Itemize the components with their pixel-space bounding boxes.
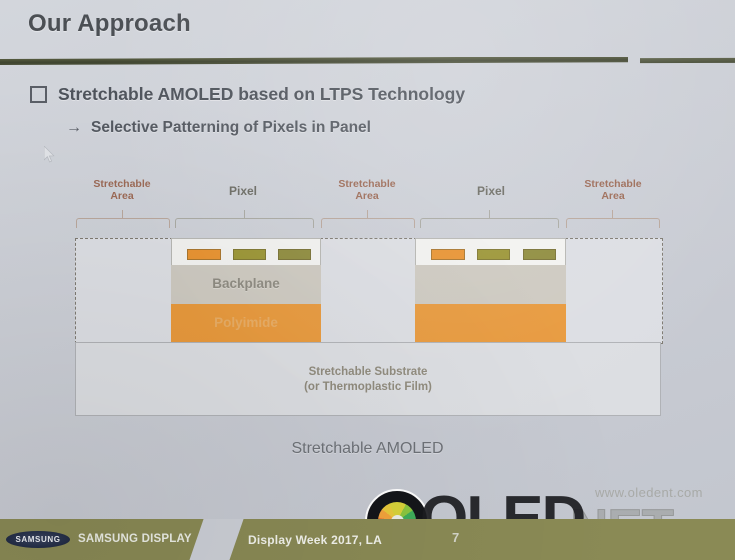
polyimide-layer-2 (415, 304, 566, 343)
subpixel-red-2 (431, 249, 465, 260)
pixel-stack-2 (415, 238, 566, 343)
stretchable-area-region-2 (320, 238, 417, 344)
label-stretchable-area-1: Stretchable Area (75, 178, 169, 202)
samsung-logo: SAMSUNG (6, 531, 70, 548)
backplane-layer-2 (415, 265, 566, 304)
subpixel-blue-2 (523, 249, 556, 260)
label-stretchable-area-2: Stretchable Area (320, 178, 414, 202)
subpixel-green-1 (233, 249, 266, 260)
pixel-stack-1: Backplane Polyimide (171, 238, 321, 343)
page-number: 7 (452, 530, 459, 545)
diagram-caption: Stretchable AMOLED (0, 440, 735, 458)
brace-pixel-1 (175, 210, 312, 228)
label-pixel-2: Pixel (428, 185, 554, 197)
subpixel-blue-1 (278, 249, 311, 260)
label-stretchable-area-3: Stretchable Area (566, 178, 660, 202)
brace-stretchable-area-2 (321, 210, 413, 228)
footer-wedge-divider (182, 519, 250, 560)
stretchable-area-region-3 (565, 238, 663, 344)
brace-pixel-2 (420, 210, 557, 228)
footer-event-label: Display Week 2017, LA (248, 533, 382, 547)
watermark-url: www.oledent.com (595, 485, 703, 500)
label-pixel-1: Pixel (180, 185, 306, 197)
brace-stretchable-area-3 (566, 210, 658, 228)
slide-footer-bar: SAMSUNG SAMSUNG DISPLAY Display Week 201… (0, 519, 735, 560)
polyimide-layer-1: Polyimide (171, 304, 321, 343)
stretchable-substrate-layer: Stretchable Substrate (or Thermoplastic … (75, 342, 661, 416)
subpixel-green-2 (477, 249, 510, 260)
stretchable-amoled-cross-section-diagram: Stretchable Area Pixel Stretchable Area … (0, 0, 735, 470)
subpixel-red-1 (187, 249, 221, 260)
backplane-layer-1: Backplane (171, 265, 321, 304)
brace-stretchable-area-1 (76, 210, 168, 228)
footer-brand-label: SAMSUNG DISPLAY (78, 533, 192, 545)
stretchable-area-region-1 (75, 238, 173, 344)
presentation-slide: Our Approach Stretchable AMOLED based on… (0, 0, 735, 560)
